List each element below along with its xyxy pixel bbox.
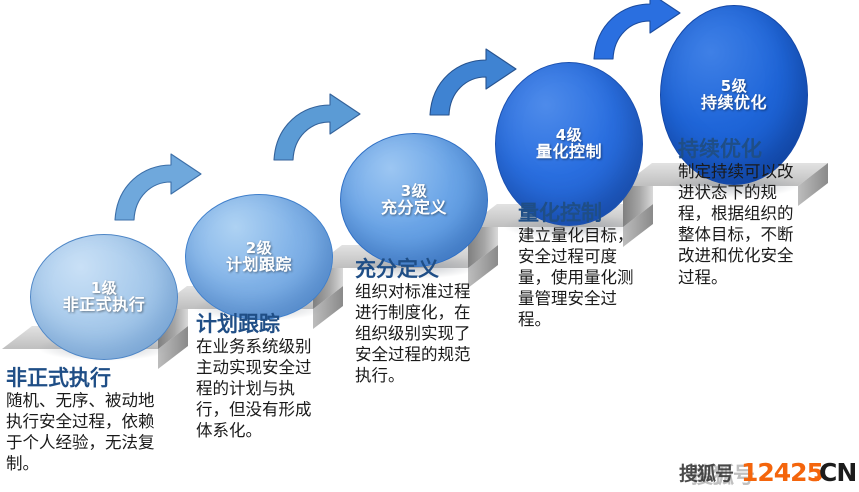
- caption-heading-5: 持续优化: [678, 138, 801, 160]
- caption-4: 量化控制 建立量化目标，安全过程可度量，使用量化测量管理安全过程。: [518, 202, 641, 331]
- caption-3: 充分定义 组织对标准过程进行制度化，在组织级别实现了安全过程的规范执行。: [355, 258, 478, 387]
- caption-heading-2: 计划跟踪: [196, 313, 319, 335]
- curved-arrow-1: [115, 154, 201, 220]
- level-name-1: 非正式执行: [63, 296, 146, 314]
- watermark-sohu-text: 搜狐号: [679, 459, 733, 486]
- maturity-staircase-diagram: 1级 非正式执行 2级 计划跟踪 3级 充分定义 4级 量化控制 5级 持续优化…: [0, 0, 859, 492]
- caption-body-1: 随机、无序、被动地执行安全过程，依赖于个人经验，无法复制。: [6, 390, 166, 474]
- caption-body-4: 建立量化目标，安全过程可度量，使用量化测量管理安全过程。: [518, 225, 641, 331]
- level-circle-1[interactable]: 1级 非正式执行: [30, 234, 178, 360]
- watermark: 搜狐号 搜狐号 12425 . CN: [679, 456, 855, 490]
- caption-body-5: 制定持续可以改进状态下的规程，根据组织的整体目标，不断改进和优化安全过程。: [678, 161, 801, 288]
- curved-arrow-2: [274, 94, 360, 160]
- level-name-4: 量化控制: [536, 143, 602, 161]
- caption-body-2: 在业务系统级别主动实现安全过程的计划与执行，但没有形成体系化。: [196, 336, 319, 442]
- caption-heading-1: 非正式执行: [6, 367, 166, 389]
- level-name-2: 计划跟踪: [226, 256, 292, 274]
- caption-2: 计划跟踪 在业务系统级别主动实现安全过程的计划与执行，但没有形成体系化。: [196, 313, 319, 442]
- level-circle-3[interactable]: 3级 充分定义: [340, 133, 488, 267]
- level-number-4: 4级: [556, 127, 582, 144]
- level-name-3: 充分定义: [381, 199, 447, 217]
- caption-1: 非正式执行 随机、无序、被动地执行安全过程，依赖于个人经验，无法复制。: [6, 367, 166, 474]
- watermark-site-tld: CN: [819, 458, 856, 487]
- level-name-5: 持续优化: [701, 94, 767, 112]
- caption-heading-4: 量化控制: [518, 202, 641, 224]
- level-number-3: 3级: [401, 183, 427, 200]
- curved-arrow-4: [594, 0, 680, 59]
- caption-5: 持续优化 制定持续可以改进状态下的规程，根据组织的整体目标，不断改进和优化安全过…: [678, 138, 801, 288]
- level-number-2: 2级: [246, 240, 272, 257]
- level-number-1: 1级: [91, 280, 117, 297]
- level-circle-2[interactable]: 2级 计划跟踪: [185, 194, 333, 320]
- caption-body-3: 组织对标准过程进行制度化，在组织级别实现了安全过程的规范执行。: [355, 281, 478, 387]
- caption-heading-3: 充分定义: [355, 258, 478, 280]
- watermark-site-number: 12425: [741, 458, 823, 487]
- level-number-5: 5级: [721, 78, 747, 95]
